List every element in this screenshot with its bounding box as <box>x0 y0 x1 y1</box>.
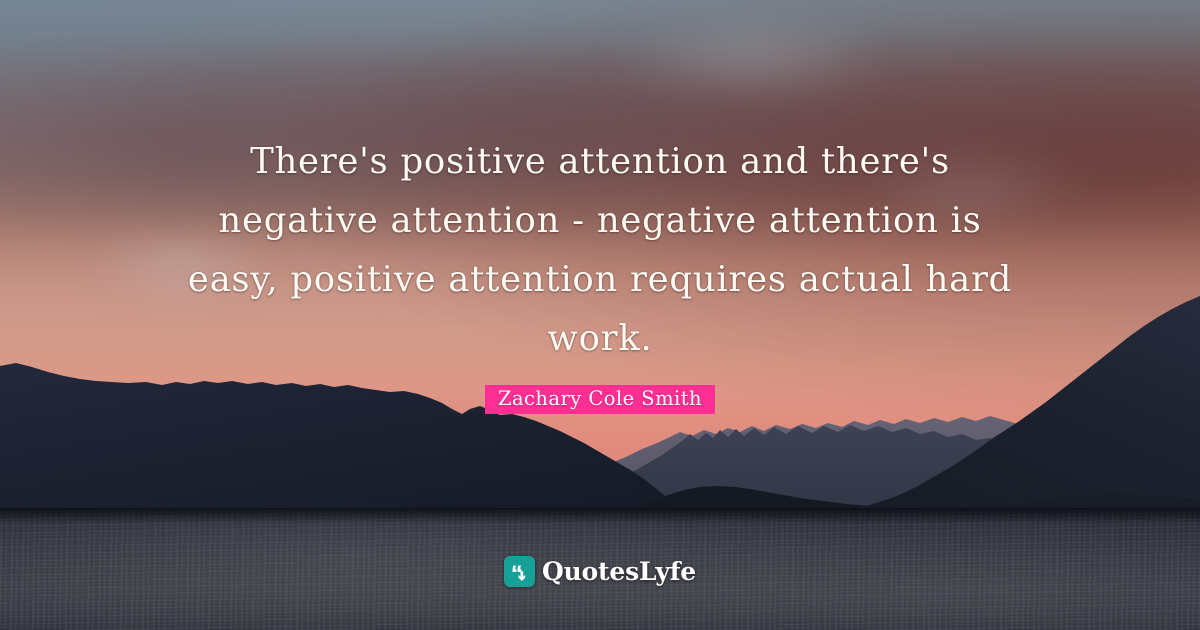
quote-bubble-icon <box>504 556 535 587</box>
water-horizon-shadow <box>0 508 1200 524</box>
author-attribution: Zachary Cole Smith <box>0 385 1200 414</box>
quote-line-2: negative attention - negative attention … <box>140 191 1060 250</box>
quote-line-3: easy, positive attention requires actual… <box>140 250 1060 309</box>
brand-watermark: QuotesLyfe <box>0 556 1200 587</box>
brand-name: QuotesLyfe <box>542 557 696 586</box>
quote-block: There's positive attention and there's n… <box>0 132 1200 368</box>
author-name-badge: Zachary Cole Smith <box>485 385 715 414</box>
quote-line-4: work. <box>140 309 1060 368</box>
quote-line-1: There's positive attention and there's <box>140 132 1060 191</box>
quote-card: There's positive attention and there's n… <box>0 0 1200 630</box>
